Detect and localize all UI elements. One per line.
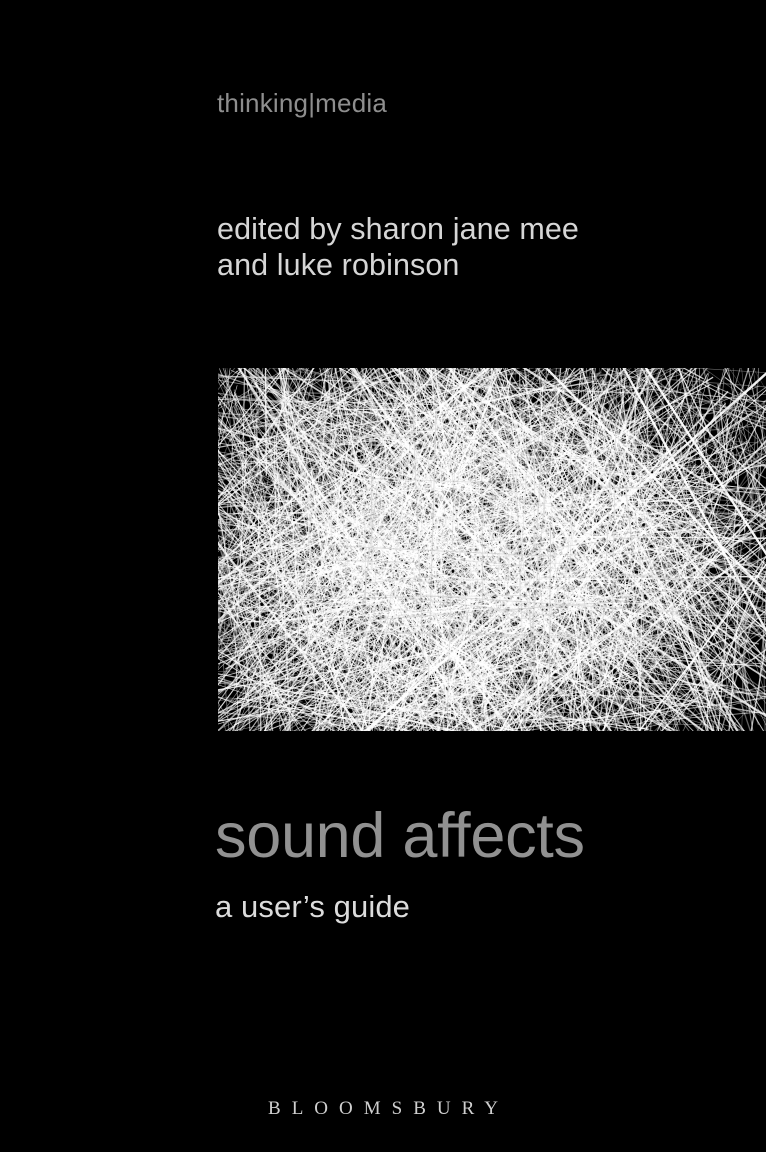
editors-line-2: and luke robinson bbox=[217, 250, 579, 281]
book-cover: thinking|media edited by sharon jane mee… bbox=[0, 0, 766, 1152]
title-block: sound affects a user’s guide bbox=[215, 805, 735, 925]
book-subtitle: a user’s guide bbox=[215, 889, 735, 925]
cover-artwork-line-tangle bbox=[218, 368, 766, 731]
line-tangle-svg bbox=[218, 368, 766, 731]
series-label: thinking|media bbox=[217, 88, 387, 119]
page-title: sound affects bbox=[215, 805, 735, 868]
editors-line-1: edited by sharon jane mee bbox=[217, 212, 579, 246]
editors-credit: edited by sharon jane mee and luke robin… bbox=[217, 214, 579, 280]
publisher-logo: BLOOMSBURY bbox=[0, 1098, 766, 1120]
